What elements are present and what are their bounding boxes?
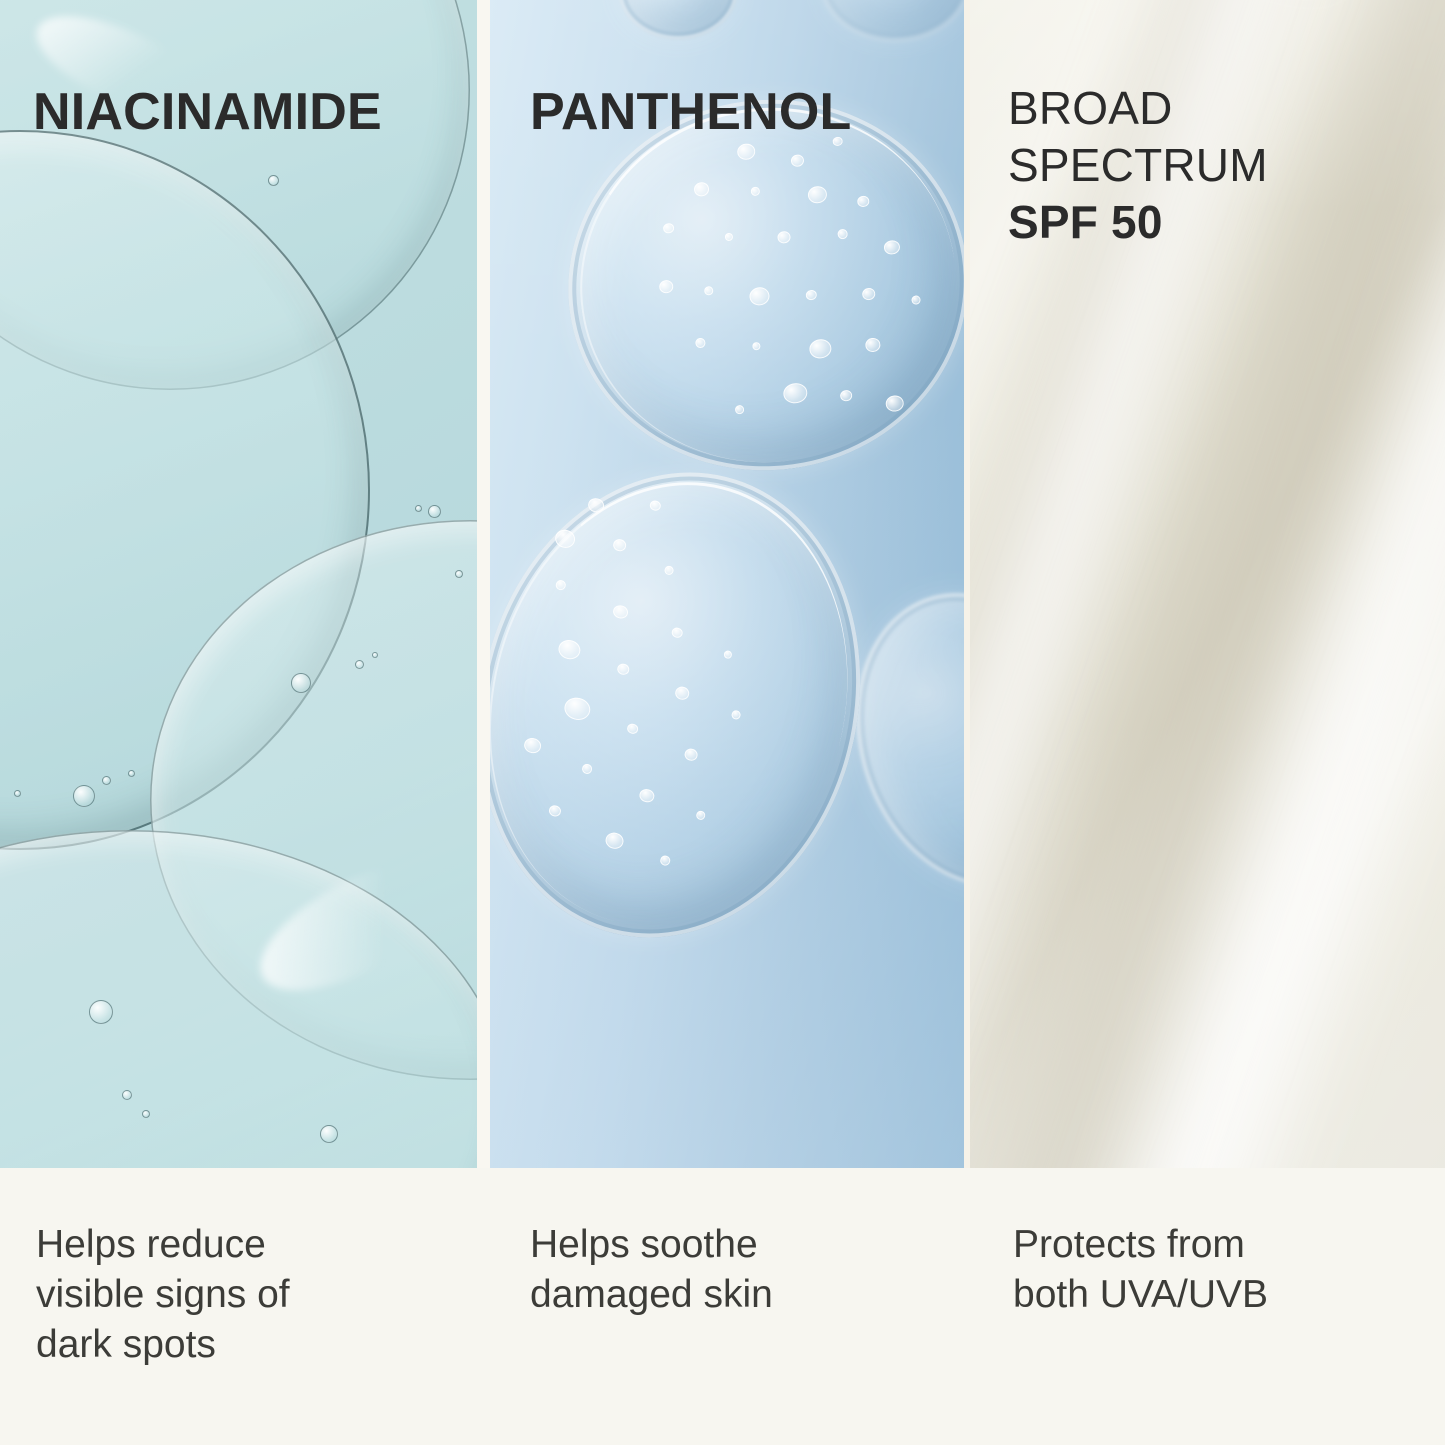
panel-panthenol-image: PANTHENOL	[490, 0, 964, 1168]
caption-text: Helps soothe damaged skin	[530, 1220, 951, 1320]
caption-text: Helps reduce visible signs of dark spots	[36, 1220, 466, 1370]
panel-heading-panthenol: PANTHENOL	[530, 84, 852, 140]
product-benefits-infographic: NIACINAMIDE	[0, 0, 1445, 1445]
caption-text: Protects from both UVA/UVB	[1013, 1220, 1421, 1320]
heading-line-spectrum: SPECTRUM	[1008, 139, 1268, 191]
heading-line-spf50: SPF 50	[1008, 194, 1268, 251]
caption-line: visible signs of	[36, 1273, 290, 1316]
caption-spf: Protects from both UVA/UVB	[975, 1168, 1445, 1445]
panel-divider	[477, 0, 490, 1168]
micro-bubble	[89, 1000, 113, 1024]
micro-bubble	[320, 1125, 338, 1143]
caption-niacinamide: Helps reduce visible signs of dark spots	[0, 1168, 490, 1445]
micro-bubble	[142, 1110, 150, 1118]
micro-bubble	[128, 770, 135, 777]
caption-line: dark spots	[36, 1323, 216, 1366]
caption-row: Helps reduce visible signs of dark spots…	[0, 1168, 1445, 1445]
heading-line-broad: BROAD	[1008, 82, 1173, 134]
micro-bubble	[122, 1090, 132, 1100]
panel-heading-niacinamide: NIACINAMIDE	[33, 84, 382, 140]
micro-bubble	[355, 660, 364, 669]
micro-bubble	[415, 505, 422, 512]
panel-spf-image: BROAD SPECTRUM SPF 50	[970, 0, 1445, 1168]
caption-line: Helps reduce	[36, 1223, 266, 1266]
micro-bubble	[268, 175, 279, 186]
caption-line: Protects from	[1013, 1223, 1245, 1266]
micro-bubble	[291, 673, 311, 693]
panel-heading-spf: BROAD SPECTRUM SPF 50	[1008, 80, 1268, 251]
caption-line: Helps soothe	[530, 1223, 758, 1266]
caption-panthenol: Helps soothe damaged skin	[490, 1168, 975, 1445]
micro-bubble	[372, 652, 378, 658]
caption-line: both UVA/UVB	[1013, 1273, 1268, 1316]
micro-bubble	[73, 785, 95, 807]
micro-bubble	[102, 776, 111, 785]
panel-niacinamide-image: NIACINAMIDE	[0, 0, 477, 1168]
micro-bubble	[455, 570, 463, 578]
micro-bubble	[428, 505, 441, 518]
image-panel-row: NIACINAMIDE	[0, 0, 1445, 1168]
caption-line: damaged skin	[530, 1273, 773, 1316]
micro-bubble	[14, 790, 21, 797]
